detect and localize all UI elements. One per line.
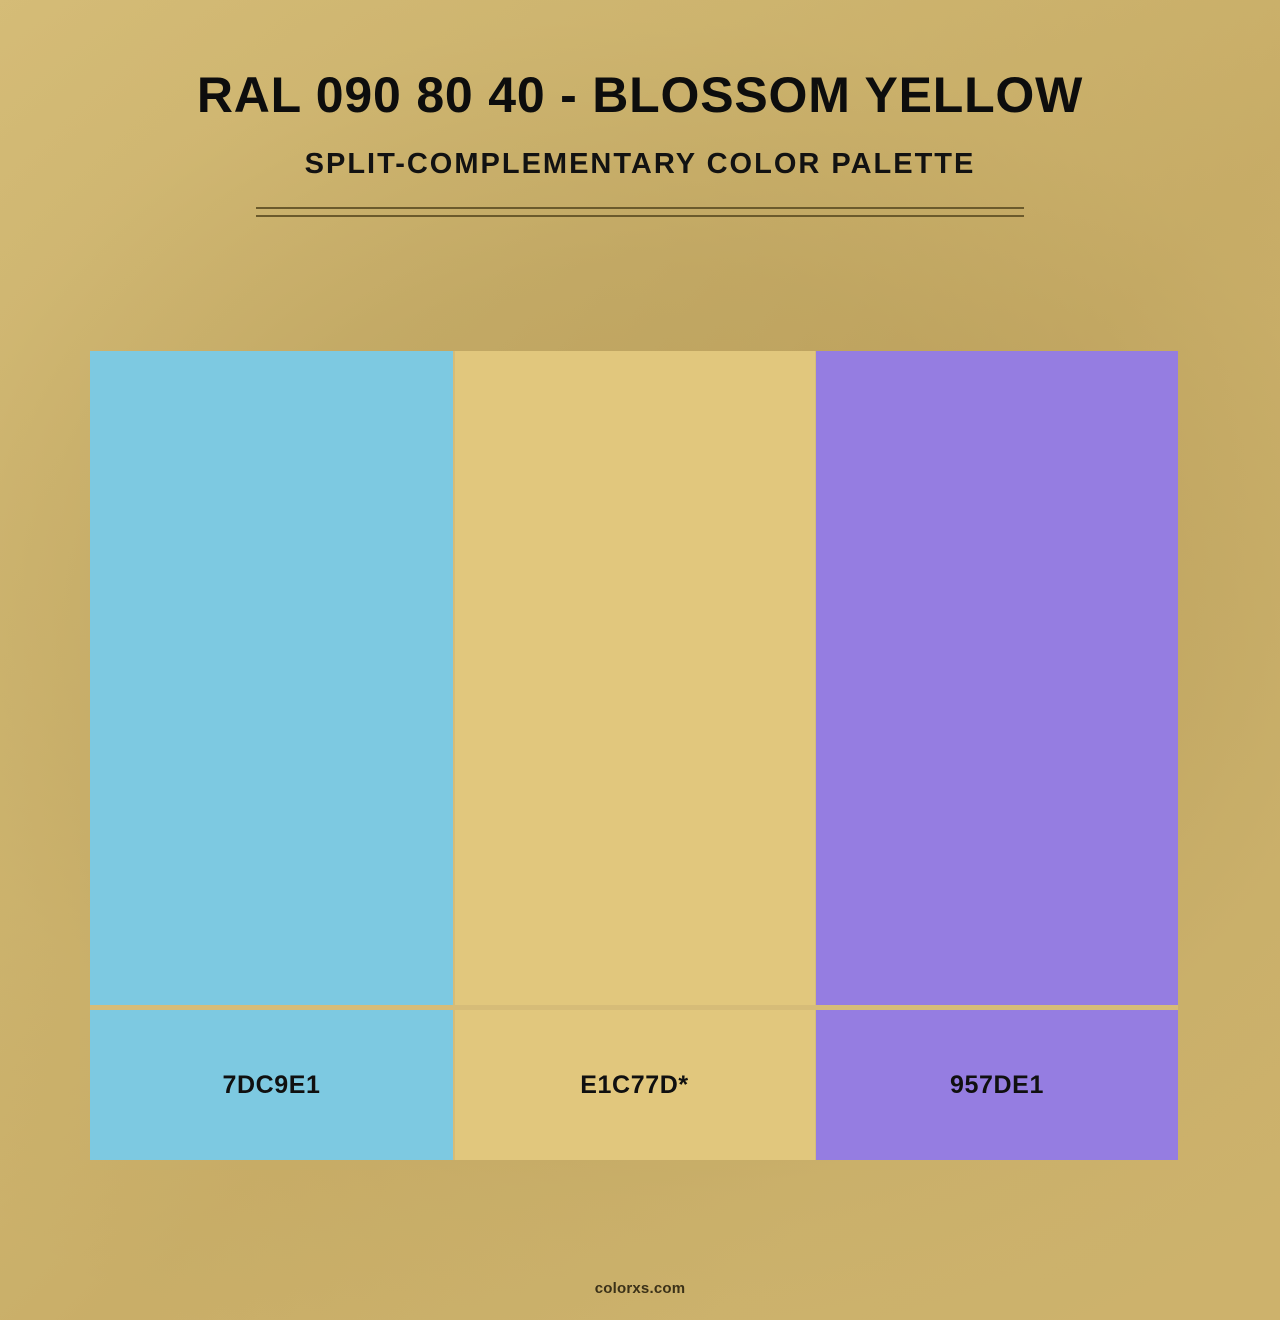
page-header: RAL 090 80 40 - BLOSSOM YELLOW SPLIT-COM… [0,0,1280,217]
color-swatch-1[interactable] [455,351,815,1005]
swatch-row [90,351,1178,1005]
color-swatch-2[interactable] [816,351,1178,1005]
hex-label-1: E1C77D* [580,1071,688,1100]
label-row: 7DC9E1 E1C77D* 957DE1 [90,1010,1178,1160]
page-subtitle: SPLIT-COMPLEMENTARY COLOR PALETTE [0,148,1280,181]
page-footer: colorxs.com [0,1280,1280,1298]
color-label-cell-1[interactable]: E1C77D* [455,1010,815,1160]
site-credit: colorxs.com [595,1280,686,1297]
hex-label-0: 7DC9E1 [222,1071,320,1100]
page-title: RAL 090 80 40 - BLOSSOM YELLOW [0,68,1280,122]
hex-label-2: 957DE1 [950,1071,1044,1100]
color-label-cell-0[interactable]: 7DC9E1 [90,1010,453,1160]
header-divider [256,207,1024,217]
palette-card: 7DC9E1 E1C77D* 957DE1 [90,351,1178,1160]
color-swatch-0[interactable] [90,351,453,1005]
color-label-cell-2[interactable]: 957DE1 [816,1010,1178,1160]
